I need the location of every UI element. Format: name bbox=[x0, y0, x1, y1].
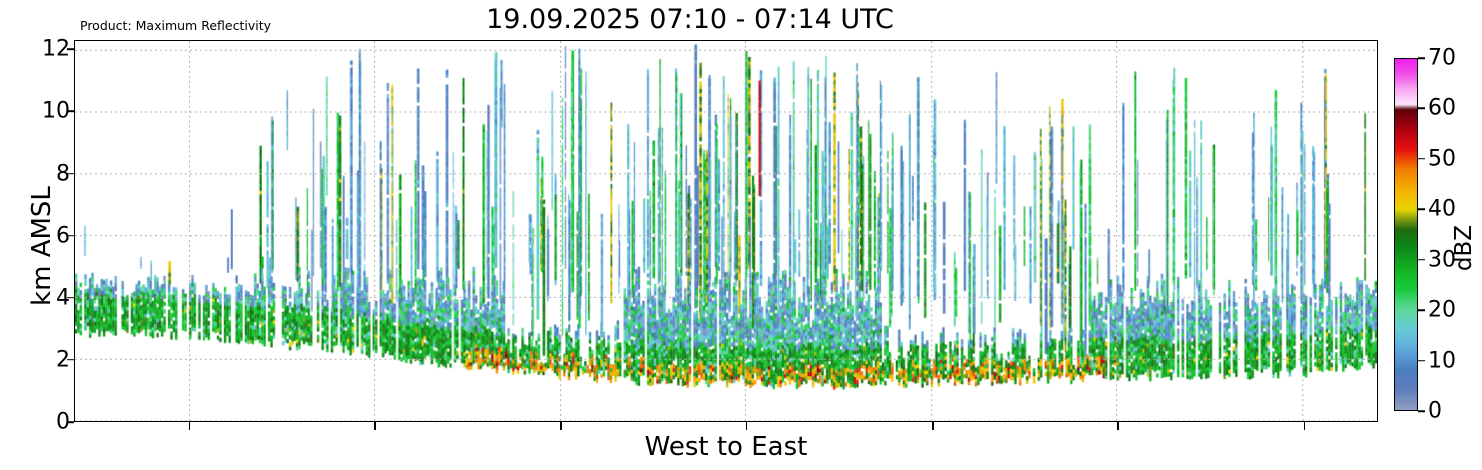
x-axis-tick-mark bbox=[1304, 422, 1306, 430]
colorbar-tick-mark bbox=[1418, 309, 1425, 311]
x-axis-label: West to East bbox=[74, 432, 1378, 462]
x-axis-tick-mark bbox=[374, 422, 376, 430]
y-axis-tick-mark bbox=[67, 111, 74, 113]
x-axis-tick-mark bbox=[932, 422, 934, 430]
plot-area bbox=[74, 40, 1378, 422]
y-axis-tick-mark bbox=[67, 235, 74, 237]
x-axis-tick-mark bbox=[560, 422, 562, 430]
colorbar-tick-mark bbox=[1418, 158, 1425, 160]
colorbar-tick-label: 40 bbox=[1428, 197, 1456, 222]
colorbar-tick-label: 0 bbox=[1428, 399, 1442, 424]
colorbar-tick-mark bbox=[1418, 209, 1425, 211]
reflectivity-mesh bbox=[75, 41, 1377, 421]
colorbar-tick-label: 10 bbox=[1428, 348, 1456, 373]
colorbar-tick-mark bbox=[1418, 259, 1425, 261]
y-axis-tick-mark bbox=[67, 49, 74, 51]
x-axis-tick-mark bbox=[189, 422, 191, 430]
y-axis-tick-label: 12 bbox=[42, 37, 70, 62]
colorbar-gradient bbox=[1394, 58, 1418, 411]
colorbar-tick-label: 50 bbox=[1428, 146, 1456, 171]
radar-cross-section-figure: 19.09.2025 07:10 - 07:14 UTC Product: Ma… bbox=[0, 0, 1482, 470]
colorbar-tick-label: 70 bbox=[1428, 46, 1456, 71]
colorbar-tick-label: 20 bbox=[1428, 298, 1456, 323]
colorbar-tick-mark bbox=[1418, 410, 1425, 412]
x-axis-tick-mark bbox=[746, 422, 748, 430]
y-axis-label: km AMSL bbox=[27, 116, 57, 376]
colorbar-tick-mark bbox=[1418, 360, 1425, 362]
y-axis-tick-label: 10 bbox=[42, 99, 70, 124]
y-axis-tick-mark bbox=[67, 359, 74, 361]
y-axis-tick-mark bbox=[67, 173, 74, 175]
colorbar-tick-mark bbox=[1418, 108, 1425, 110]
colorbar-tick-label: 30 bbox=[1428, 247, 1456, 272]
y-axis-tick-mark bbox=[67, 297, 74, 299]
colorbar-tick-mark bbox=[1418, 57, 1425, 59]
colorbar-tick-label: 60 bbox=[1428, 96, 1456, 121]
y-axis-tick-mark bbox=[67, 421, 74, 423]
colorbar bbox=[1394, 58, 1418, 411]
chart-subtitle: Product: Maximum Reflectivity bbox=[80, 18, 271, 33]
x-axis-tick-mark bbox=[1117, 422, 1119, 430]
